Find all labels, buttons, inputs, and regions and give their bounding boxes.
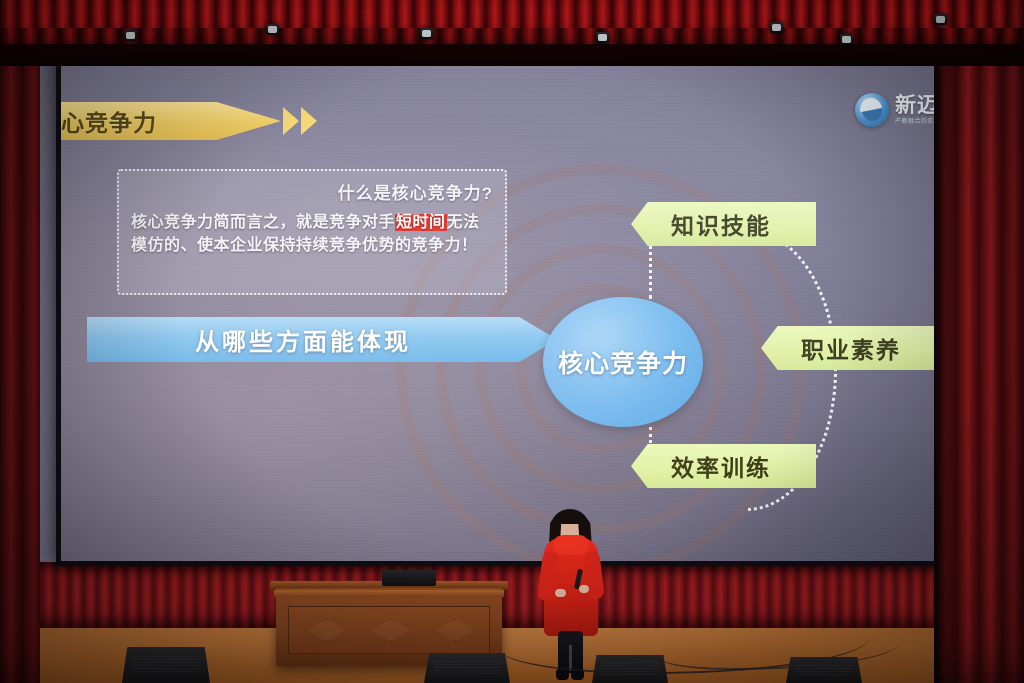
curtain-leg-left xyxy=(0,0,40,683)
definition-text-before: 核心竞争力简而言之，就是竞争对手 xyxy=(131,214,395,231)
definition-box-title: 什么是核心竞争力? xyxy=(131,179,493,204)
laptop-on-podium xyxy=(382,570,436,586)
chevron-right-icon xyxy=(283,107,299,135)
stage-light-icon xyxy=(770,22,783,33)
swirl-logo-icon xyxy=(855,93,889,127)
definition-box-body: 核心竞争力简而言之，就是竞争对手短时间无法模仿的、使本企业保持持续竞争优势的竞争… xyxy=(131,212,493,257)
presenter-hand-left xyxy=(555,589,566,597)
branch-chevron-efficiency-training: 效率训练 xyxy=(631,444,816,488)
podium-diamond-carving xyxy=(371,619,411,641)
podium-diamond-carving xyxy=(307,619,347,641)
aspects-question-label: 从哪些方面能体现 xyxy=(195,322,449,357)
stage-monitor-wedge xyxy=(592,655,668,683)
core-competency-hub: 核心竞争力 xyxy=(543,297,703,427)
presenter-collar xyxy=(553,535,589,555)
curtain-leg-right xyxy=(934,0,1024,683)
stage-scene: 心竞争力 什么是核心竞争力? 核心竞争力简而言之，就是竞争对手短时间无法模仿的、… xyxy=(0,0,1024,683)
branch-chevron-knowledge-skills: 知识技能 xyxy=(631,202,816,246)
podium-diamond-carving xyxy=(435,619,475,641)
projection-screen-frame: 心竞争力 什么是核心竞争力? 核心竞争力简而言之，就是竞争对手短时间无法模仿的、… xyxy=(56,44,962,566)
branch-label: 知识技能 xyxy=(631,207,771,241)
stage-monitor-wedge xyxy=(122,647,210,683)
slide-title-banner: 心竞争力 xyxy=(61,102,281,140)
core-competency-hub-label: 核心竞争力 xyxy=(558,344,688,380)
branch-label: 职业素养 xyxy=(761,331,901,365)
definition-text-highlight: 短时间 xyxy=(395,214,447,231)
podium-front-panel xyxy=(288,606,490,654)
stage-monitor-wedge xyxy=(424,653,510,683)
aspects-question-banner: 从哪些方面能体现 xyxy=(87,317,557,362)
curtain-leg-shadow xyxy=(934,0,956,683)
stage-monitor-wedge xyxy=(786,657,862,683)
presenter-hand-right xyxy=(579,585,589,593)
stage-light-icon xyxy=(934,14,947,25)
definition-box: 什么是核心竞争力? 核心竞争力简而言之，就是竞争对手短时间无法模仿的、使本企业保… xyxy=(117,169,507,295)
presenter-boot-left xyxy=(556,669,569,680)
stage-light-icon xyxy=(124,30,137,41)
slide-title-banner-label: 心竞争力 xyxy=(61,104,157,138)
projection-screen: 心竞争力 什么是核心竞争力? 核心竞争力简而言之，就是竞争对手短时间无法模仿的、… xyxy=(61,49,957,561)
stage-light-icon xyxy=(840,34,853,45)
dotted-line-connector-top xyxy=(649,245,652,299)
chevron-right-icon xyxy=(301,107,317,135)
podium-lip xyxy=(274,590,504,597)
ceiling-shadow-band xyxy=(0,44,1024,66)
branch-chevron-professional-quality: 职业素养 xyxy=(761,326,946,370)
stage-light-icon xyxy=(266,24,279,35)
branch-label: 效率训练 xyxy=(631,449,771,483)
stage-light-icon xyxy=(420,28,433,39)
stage-light-icon xyxy=(596,32,609,43)
